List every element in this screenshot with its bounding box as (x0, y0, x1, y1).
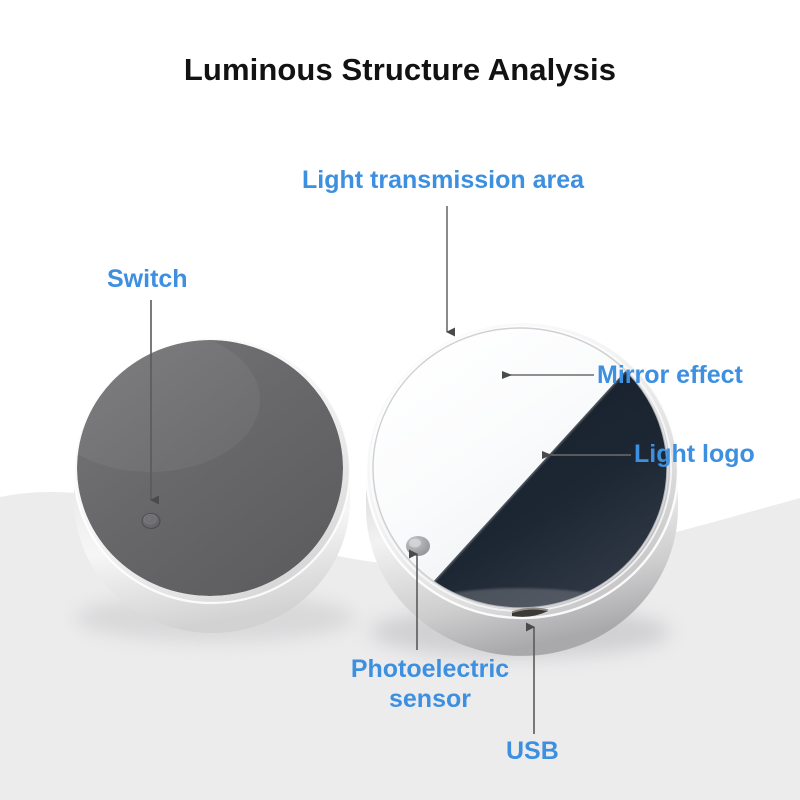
left-device-top-sheen (40, 328, 260, 472)
label-photoelectric-sensor: Photoelectric sensor (340, 655, 520, 714)
photoelectric-sensor-highlight (409, 539, 421, 548)
label-mirror-effect: Mirror effect (597, 361, 743, 391)
page-title: Luminous Structure Analysis (0, 52, 800, 88)
left-device (40, 328, 350, 633)
label-light-transmission-area: Light transmission area (302, 166, 584, 196)
label-switch: Switch (107, 265, 188, 295)
infographic-canvas: Luminous Structure Analysis (0, 0, 800, 800)
label-light-logo: Light logo (634, 440, 755, 470)
label-usb: USB (506, 737, 559, 767)
